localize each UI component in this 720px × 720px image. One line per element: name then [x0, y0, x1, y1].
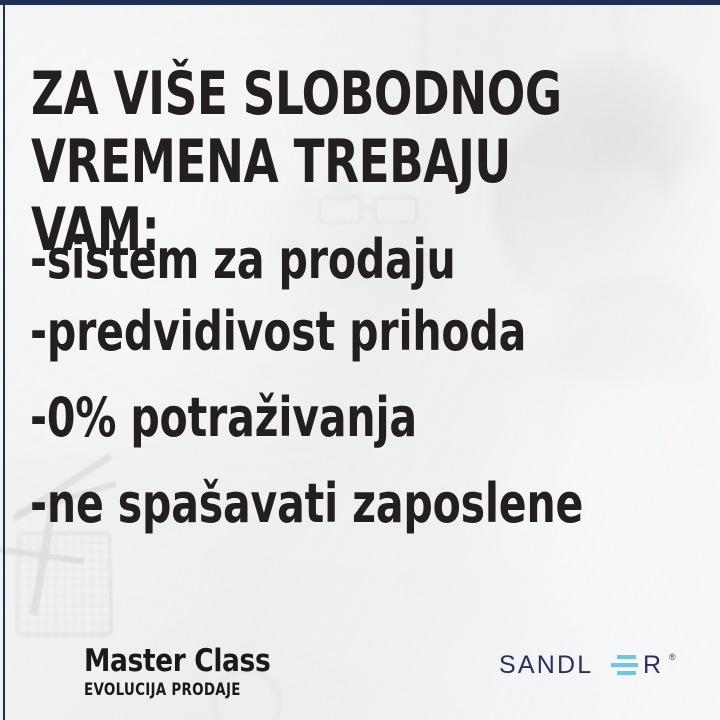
sandler-letters-sandl: SANDL [499, 652, 593, 678]
sandler-logo: SANDL R ® [499, 652, 676, 678]
social-card-canvas: ZA VIŠE SLOBODNOG VREMENA TREBAJU VAM: -… [0, 0, 720, 720]
content-layer: ZA VIŠE SLOBODNOG VREMENA TREBAJU VAM: -… [0, 0, 720, 720]
sandler-wordmark-svg: SANDL R [499, 652, 667, 678]
bullet-list: -sistem za prodaju -predvidivost prihoda… [30, 224, 583, 540]
headline-line-1: ZA VIŠE SLOBODNOG [31, 59, 562, 129]
sandler-letter-r: R [643, 652, 663, 678]
sandler-stylized-e-icon [611, 655, 638, 675]
bullet-item-4: -ne spašavati zaposlene [30, 468, 583, 540]
bullet-item-3: -0% potraživanja [30, 382, 583, 454]
master-class-title: Master Class [84, 646, 270, 677]
bullet-item-2: -predvidivost prihoda [30, 296, 583, 368]
registered-trademark-symbol: ® [669, 653, 676, 662]
master-class-logo: Master Class EVOLUCIJA PRODAJE [84, 646, 280, 699]
bullet-item-1: -sistem za prodaju [30, 224, 583, 296]
master-class-subtitle: EVOLUCIJA PRODAJE [84, 681, 257, 699]
